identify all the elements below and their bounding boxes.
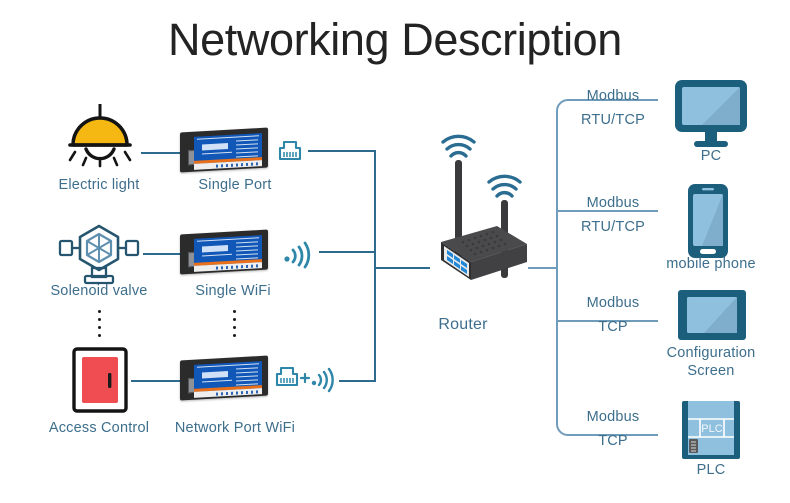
protocol-label-plc-line2: TCP bbox=[598, 433, 628, 449]
router-label: Router bbox=[438, 316, 487, 334]
ethernet-plus-wifi-icon bbox=[275, 364, 335, 392]
ellipsis-sources bbox=[98, 310, 102, 342]
device-module-single-port bbox=[180, 130, 268, 170]
smartphone-icon bbox=[686, 182, 730, 260]
device-label-plc: PLC bbox=[697, 462, 726, 478]
protocol-label-phone-line2: RTU/TCP bbox=[581, 219, 645, 235]
wifi-router-icon bbox=[405, 138, 531, 298]
device-label-single-port: Single Port bbox=[198, 177, 271, 193]
protocol-label-pc-line2: RTU/TCP bbox=[581, 112, 645, 128]
plc-inner-text: PLC bbox=[701, 423, 722, 435]
protocol-label-plc-line1: Modbus bbox=[587, 409, 640, 425]
source-label-solenoid-valve: Solenoid valve bbox=[50, 283, 147, 299]
device-label-mobile-phone: mobile phone bbox=[666, 256, 755, 272]
plc-icon: PLC bbox=[680, 399, 742, 461]
right-bus bbox=[548, 95, 668, 440]
left-bus-vertical bbox=[374, 150, 376, 382]
protocol-label-pc-line1: Modbus bbox=[587, 88, 640, 104]
page-title: Networking Description bbox=[0, 14, 790, 66]
device-label-single-wifi: Single WiFi bbox=[195, 283, 271, 299]
source-label-electric-light: Electric light bbox=[59, 177, 140, 193]
protocol-label-config-line1: Modbus bbox=[587, 295, 640, 311]
solenoid-valve-icon bbox=[58, 222, 140, 284]
device-label-network-port-wifi: Network Port WiFi bbox=[175, 420, 295, 436]
device-label-configuration-screen: Configuration Screen bbox=[641, 344, 781, 380]
bus-line-row2 bbox=[319, 251, 376, 253]
bus-line-row1 bbox=[308, 150, 376, 152]
source-label-access-control: Access Control bbox=[49, 420, 149, 436]
desktop-monitor-icon bbox=[672, 78, 750, 150]
device-label-pc: PC bbox=[701, 148, 722, 164]
ellipsis-devices bbox=[233, 310, 237, 342]
device-module-single-wifi bbox=[180, 232, 268, 272]
wifi-signal-icon bbox=[283, 237, 315, 267]
access-control-icon bbox=[72, 347, 128, 413]
hmi-panel-icon bbox=[676, 288, 748, 342]
bus-line-row3 bbox=[339, 380, 376, 382]
diagram-canvas: Networking Description Electric light bbox=[0, 0, 790, 503]
protocol-label-config-line2: TCP bbox=[598, 319, 628, 335]
protocol-label-phone-line1: Modbus bbox=[587, 195, 640, 211]
ethernet-port-icon bbox=[277, 138, 303, 162]
pendant-lamp-icon bbox=[62, 104, 138, 166]
device-module-network-port-wifi bbox=[180, 358, 268, 398]
